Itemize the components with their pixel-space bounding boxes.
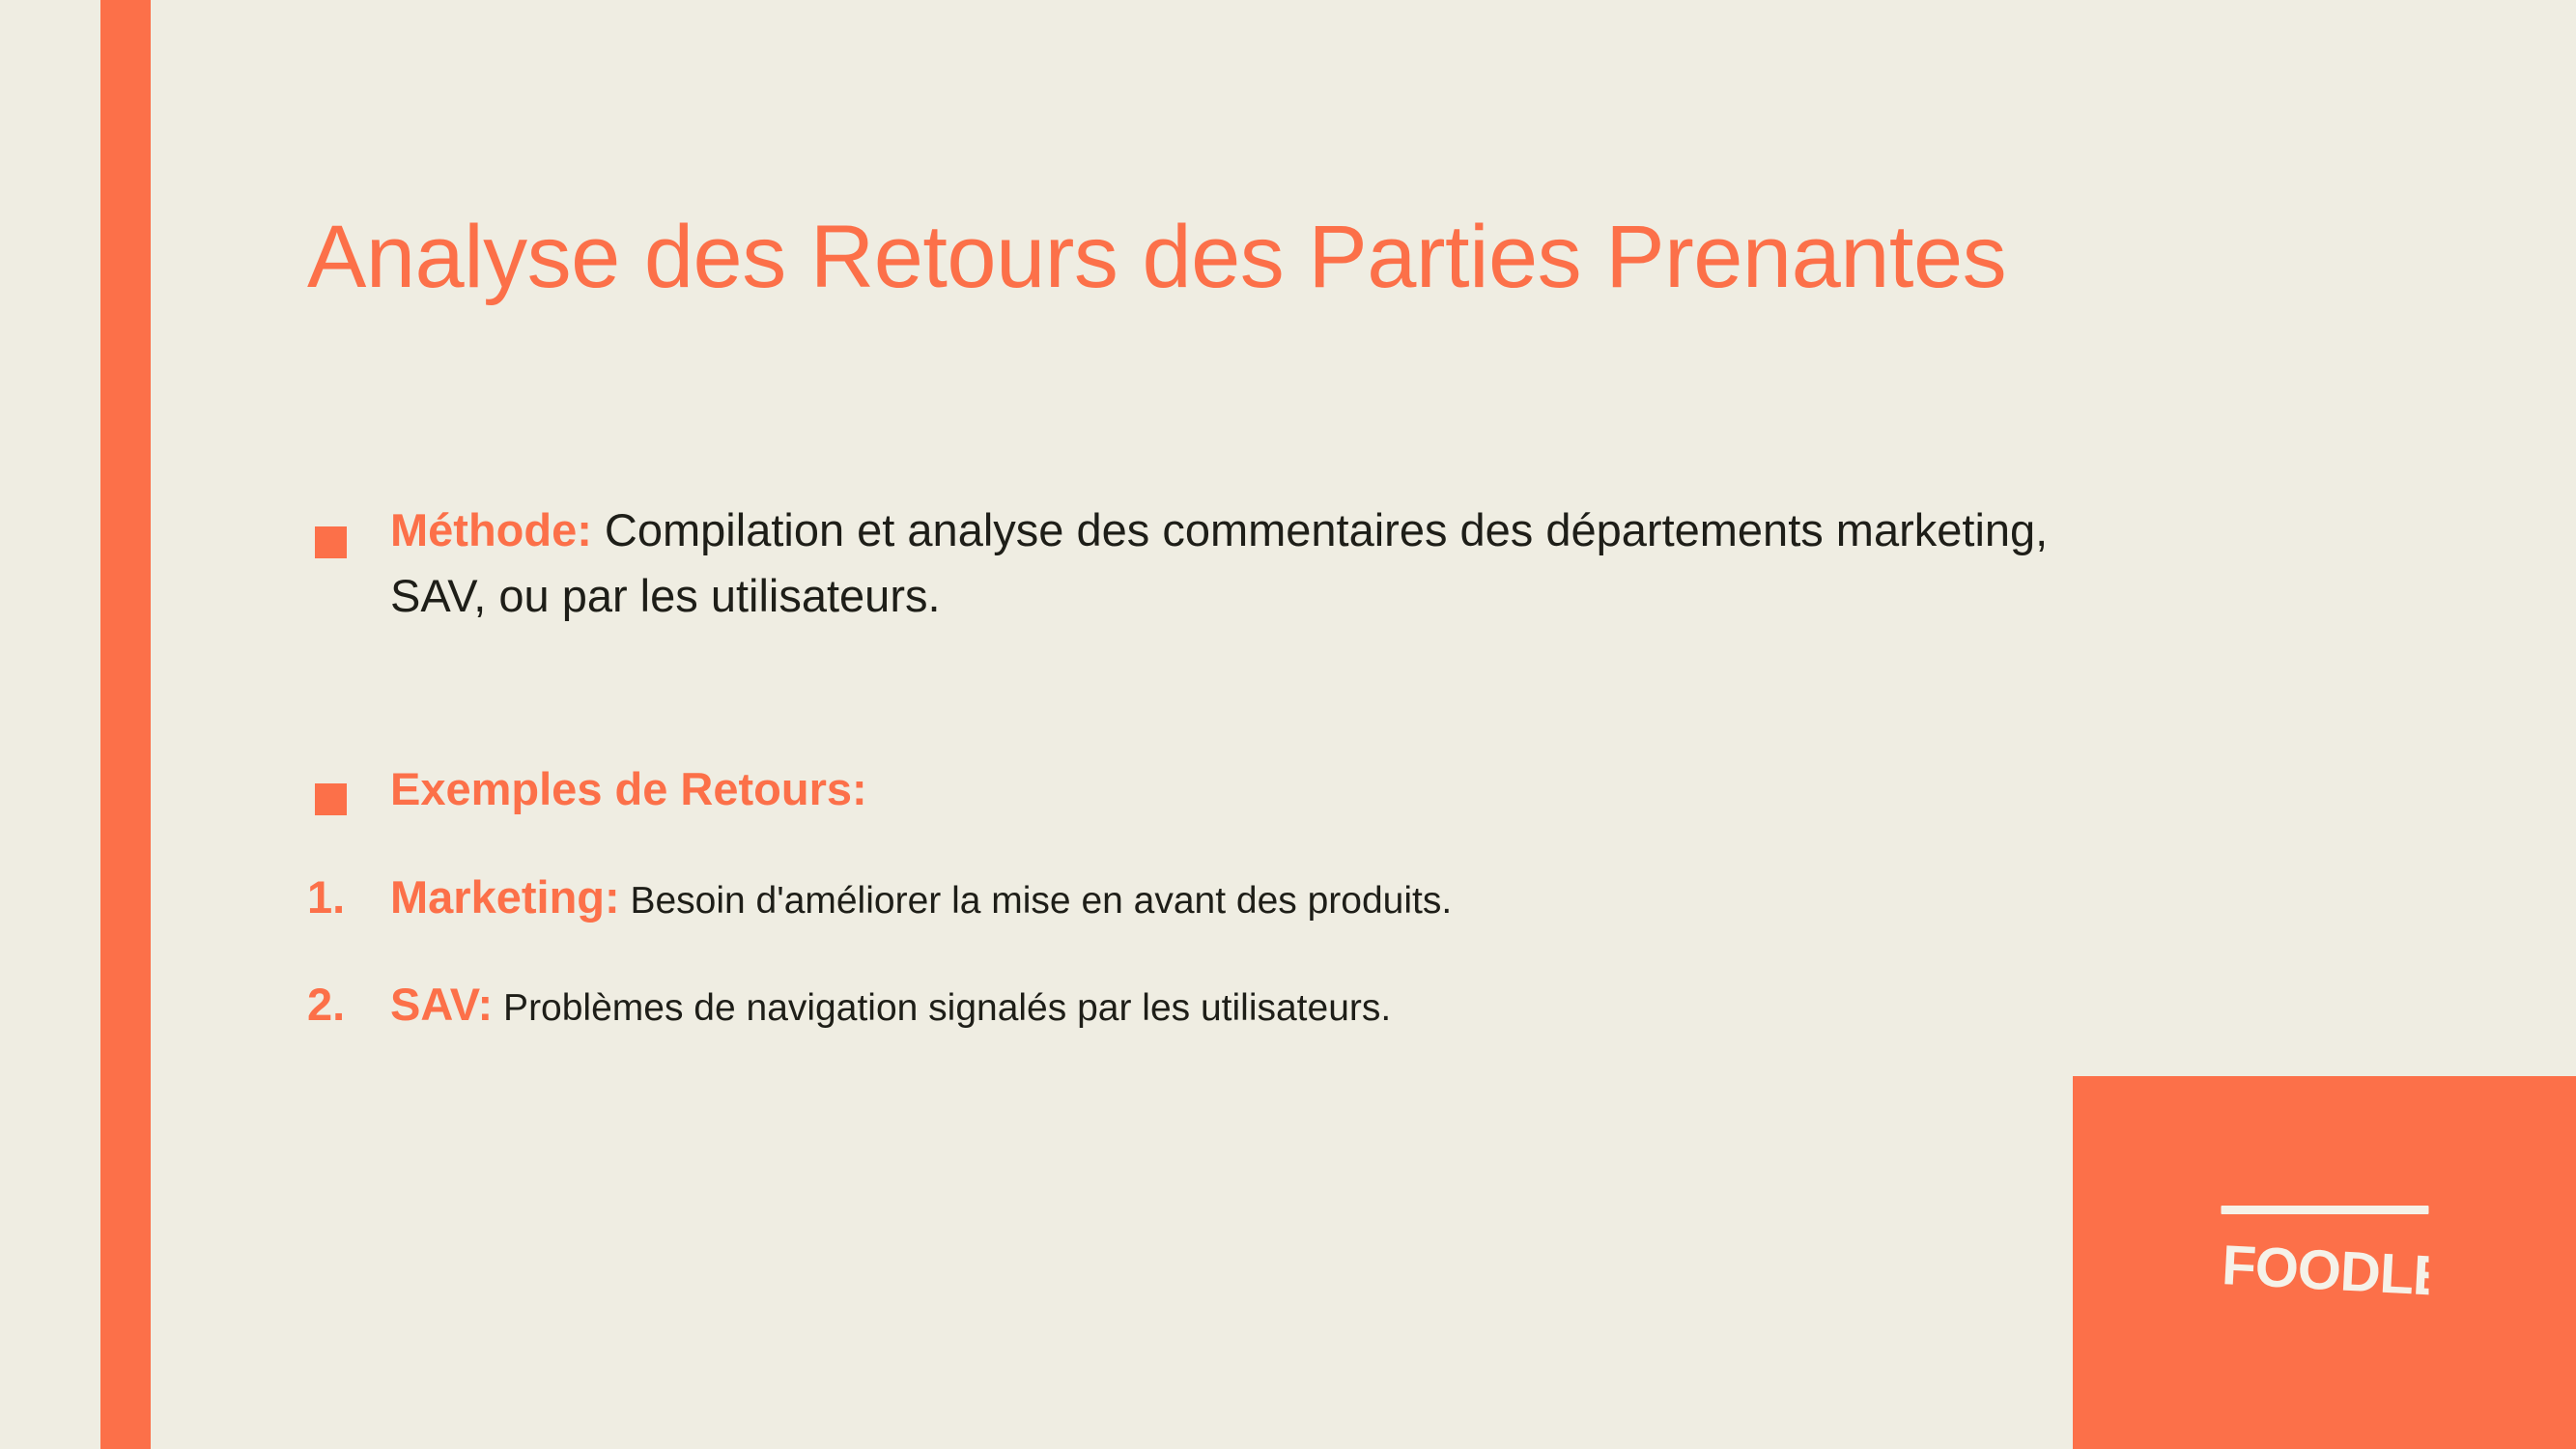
slide-root: Analyse des Retours des Parties Prenante…	[0, 0, 2576, 1449]
logo-bar-icon	[2221, 1206, 2428, 1214]
bullet-method-body: Compilation et analyse des commentaires …	[390, 504, 2048, 621]
foodles-wordmark-icon: FOODLES	[2221, 1229, 2428, 1298]
bullet-method-lead: Méthode:	[390, 504, 592, 555]
list-item-number: 2.	[307, 973, 345, 1037]
list-item-number: 1.	[307, 866, 345, 929]
section-spacer	[307, 629, 2104, 756]
square-bullet-icon	[315, 783, 347, 815]
list-item-label: SAV:	[390, 979, 493, 1030]
foodles-wordmark-text: FOODLES	[2221, 1234, 2428, 1298]
bullet-examples-heading-label: Exemples de Retours:	[390, 756, 2104, 822]
square-bullet-icon	[315, 526, 347, 558]
foodles-logo-block: FOODLES	[2073, 1076, 2576, 1449]
slide-body: Méthode: Compilation et analyse des comm…	[307, 497, 2104, 1037]
bullet-method: Méthode: Compilation et analyse des comm…	[307, 497, 2104, 629]
list-item: 1. Marketing: Besoin d'améliorer la mise…	[307, 866, 2104, 929]
list-item-body: Problèmes de navigation signalés par les…	[493, 987, 1391, 1029]
examples-list: 1. Marketing: Besoin d'améliorer la mise…	[307, 866, 2104, 1037]
bullet-method-text: Méthode: Compilation et analyse des comm…	[390, 497, 2104, 629]
bullet-examples-heading: Exemples de Retours:	[307, 756, 2104, 822]
list-item-label: Marketing:	[390, 871, 620, 923]
page-title: Analyse des Retours des Parties Prenante…	[307, 195, 2007, 320]
list-item: 2. SAV: Problèmes de navigation signalés…	[307, 973, 2104, 1037]
left-accent-bar	[100, 0, 151, 1449]
list-item-body: Besoin d'améliorer la mise en avant des …	[620, 880, 1453, 922]
foodles-logo: FOODLES	[2221, 1206, 2428, 1298]
